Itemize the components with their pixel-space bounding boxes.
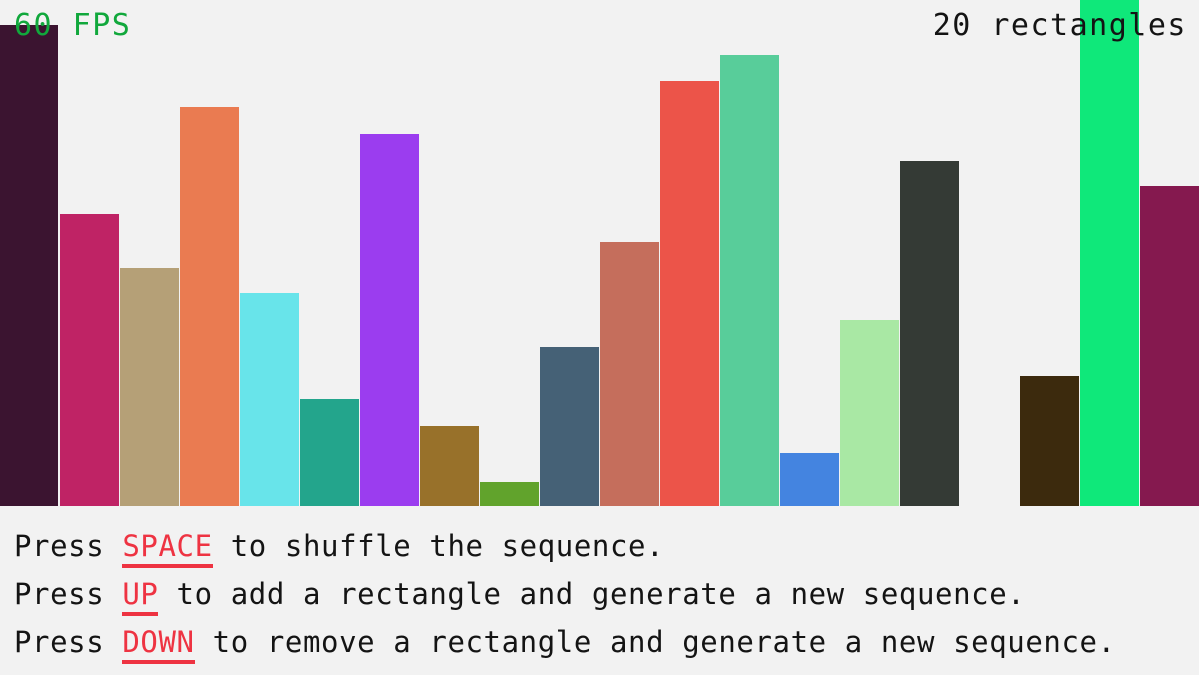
bar-10 [540, 347, 599, 506]
key-hint-space[interactable]: SPACE [122, 529, 212, 568]
instruction-suffix: to remove a rectangle and generate a new… [195, 625, 1116, 659]
instruction-suffix: to shuffle the sequence. [213, 529, 665, 563]
instruction-line-3: Press DOWN to remove a rectangle and gen… [14, 618, 1199, 666]
bar-11 [600, 242, 659, 506]
bar-13 [720, 55, 779, 506]
bar-5 [240, 293, 299, 506]
rectangle-sort-visualizer: 60 FPS 20 rectangles Press SPACE to shuf… [0, 0, 1199, 675]
instruction-prefix: Press [14, 577, 122, 611]
rectangle-count-label: 20 rectangles [933, 11, 1187, 41]
key-hint-down[interactable]: DOWN [122, 625, 194, 664]
instructions-panel: Press SPACE to shuffle the sequence.Pres… [0, 506, 1199, 675]
bar-16 [900, 161, 959, 506]
instruction-suffix: to add a rectangle and generate a new se… [158, 577, 1025, 611]
bar-9 [480, 482, 539, 506]
bar-6 [300, 399, 359, 506]
bar-19 [1080, 0, 1139, 506]
key-hint-up[interactable]: UP [122, 577, 158, 616]
bar-7 [360, 134, 419, 506]
instruction-line-2: Press UP to add a rectangle and generate… [14, 570, 1199, 618]
instruction-prefix: Press [14, 529, 122, 563]
fps-counter: 60 FPS [14, 11, 131, 41]
bar-1 [0, 25, 58, 506]
bar-20 [1140, 186, 1199, 506]
bar-4 [180, 107, 239, 506]
bar-2 [60, 214, 119, 506]
bar-8 [420, 426, 479, 506]
bar-3 [120, 268, 179, 506]
bar-12 [660, 81, 719, 506]
bar-14 [780, 453, 839, 506]
instruction-prefix: Press [14, 625, 122, 659]
instruction-line-1: Press SPACE to shuffle the sequence. [14, 522, 1199, 570]
bar-18 [1020, 376, 1079, 506]
bar-chart [0, 0, 1199, 506]
bar-15 [840, 320, 899, 506]
